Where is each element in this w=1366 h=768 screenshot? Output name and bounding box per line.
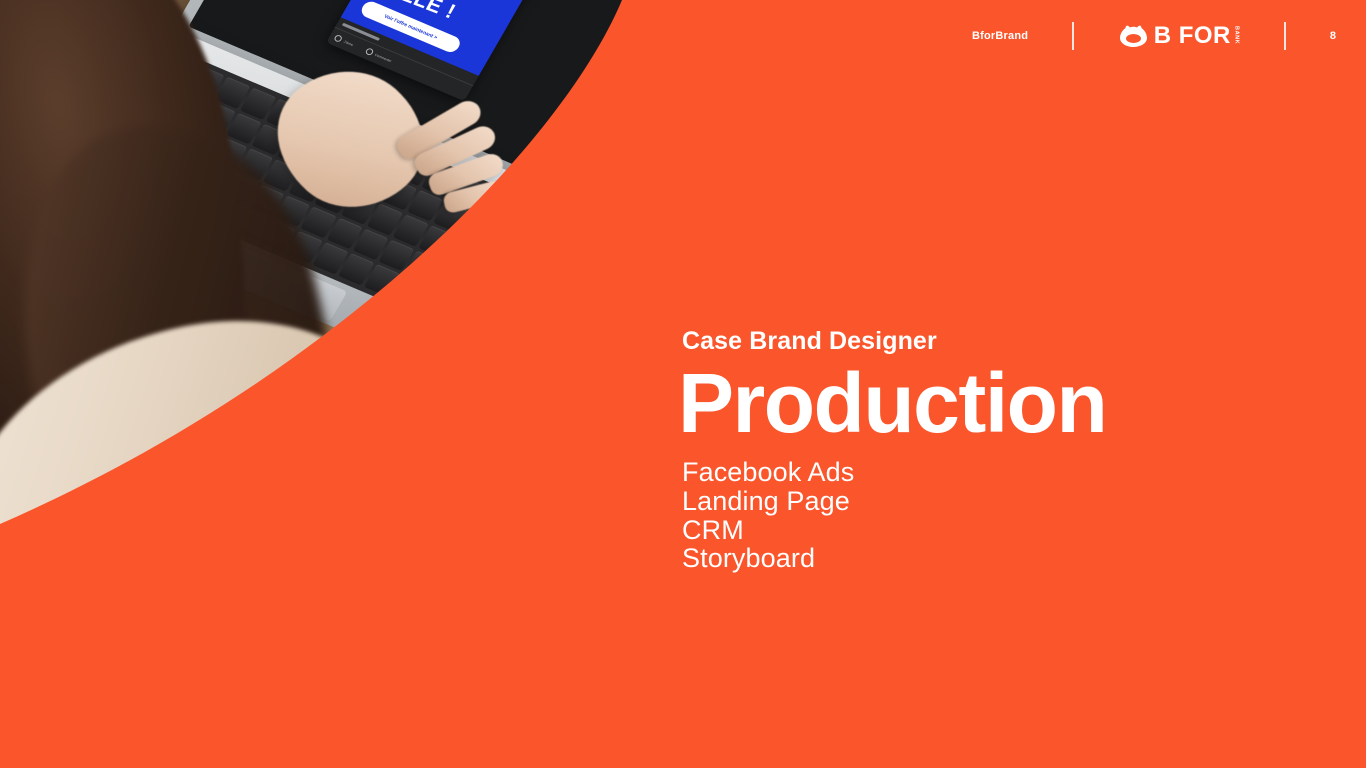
bfor-blob-icon — [1120, 25, 1147, 47]
brand-tag: BforBrand — [972, 30, 1072, 42]
eyebrow-text: Case Brand Designer — [682, 328, 1242, 356]
list-item: Facebook Ads — [682, 458, 1242, 487]
slide: B FOR 150€ Offerts* VISA *Offre sous con… — [0, 0, 1366, 768]
list-item: Storyboard — [682, 544, 1242, 573]
thumbs-up-icon — [333, 34, 343, 43]
list-item: Landing Page — [682, 487, 1242, 516]
page-number: 8 — [1286, 30, 1336, 42]
list-item: CRM — [682, 516, 1242, 545]
logo-sub-text: BANK — [1233, 26, 1239, 44]
bfor-wordmark: B FOR BANK — [1154, 24, 1239, 48]
logo-text: B FOR — [1154, 24, 1231, 48]
slide-header: BforBrand B FOR BANK 8 — [972, 0, 1366, 72]
bfor-logo: B FOR BANK — [1074, 24, 1285, 48]
content-block: Case Brand Designer Production Facebook … — [682, 328, 1242, 573]
deliverables-list: Facebook Ads Landing Page CRM Storyboard — [682, 458, 1242, 574]
page-title: Production — [678, 362, 1242, 444]
